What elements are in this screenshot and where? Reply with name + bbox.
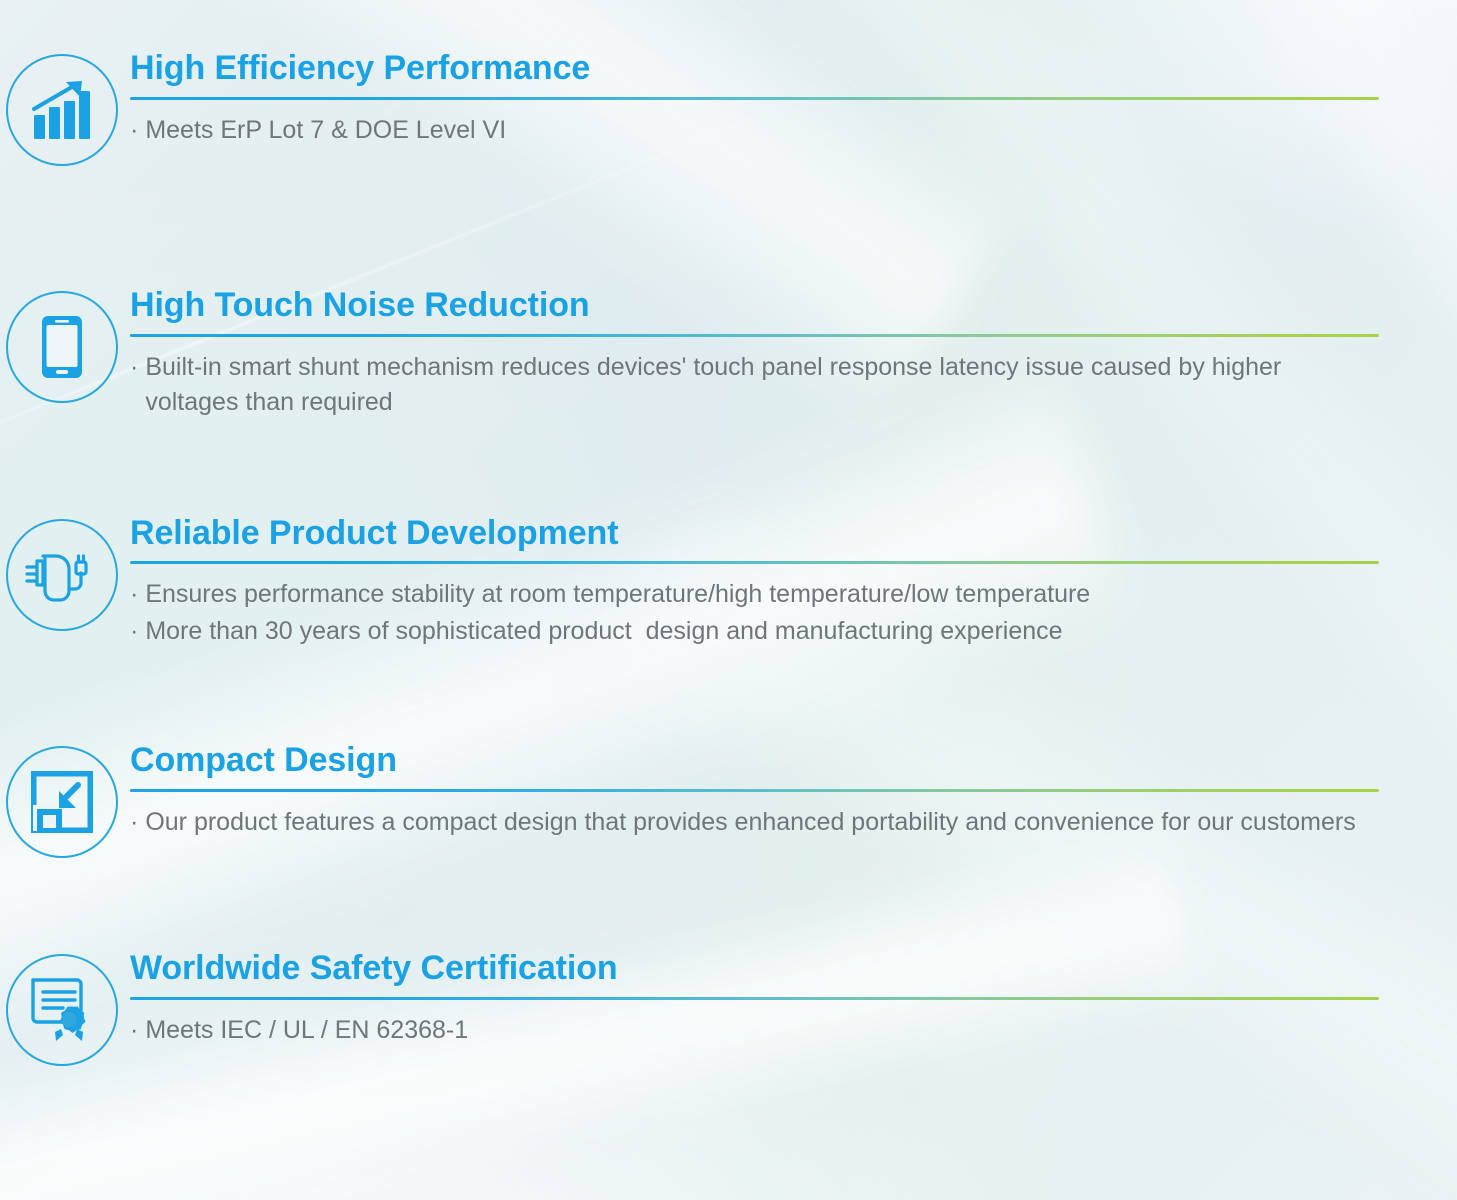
feature-bullets: · Meets ErP Lot 7 & DOE Level VI <box>130 113 1379 149</box>
feature-title: High Touch Noise Reduction <box>130 287 1379 324</box>
feature-bullets: · Our product features a compact design … <box>130 805 1379 841</box>
bullet-marker: · <box>130 805 138 841</box>
feature-item-high-touch-noise-reduction: High Touch Noise Reduction · Built-in sm… <box>0 287 1457 421</box>
feature-item-high-efficiency-performance: High Efficiency Performance · Meets ErP … <box>0 50 1457 166</box>
feature-bullet: · More than 30 years of sophisticated pr… <box>130 614 1379 650</box>
growth-bar-chart-icon <box>6 54 118 166</box>
feature-bullets: · Meets IEC / UL / EN 62368-1 <box>130 1013 1379 1049</box>
compact-resize-icon <box>6 746 118 858</box>
bullet-text: Meets IEC / UL / EN 62368-1 <box>145 1013 1379 1049</box>
feature-bullets: · Ensures performance stability at room … <box>130 577 1379 649</box>
feature-title: High Efficiency Performance <box>130 50 1379 87</box>
feature-bullets: · Built-in smart shunt mechanism reduces… <box>130 350 1379 421</box>
feature-icon-slot <box>0 291 124 403</box>
feature-body: Reliable Product Development · Ensures p… <box>124 515 1457 650</box>
bullet-marker: · <box>130 350 138 386</box>
feature-divider <box>130 789 1379 792</box>
feature-item-reliable-product-development: Reliable Product Development · Ensures p… <box>0 515 1457 650</box>
bullet-text: More than 30 years of sophisticated prod… <box>145 614 1379 650</box>
feature-bullet: · Meets ErP Lot 7 & DOE Level VI <box>130 113 1379 149</box>
bullet-text: Meets ErP Lot 7 & DOE Level VI <box>145 113 1379 149</box>
feature-title: Worldwide Safety Certification <box>130 950 1379 987</box>
smartphone-icon <box>6 291 118 403</box>
certificate-seal-icon <box>6 954 118 1066</box>
feature-icon-slot <box>0 54 124 166</box>
feature-divider <box>130 97 1379 100</box>
feature-bullet: · Our product features a compact design … <box>130 805 1379 841</box>
bullet-text: Ensures performance stability at room te… <box>145 577 1379 613</box>
feature-bullet: · Meets IEC / UL / EN 62368-1 <box>130 1013 1379 1049</box>
feature-divider <box>130 334 1379 337</box>
feature-body: High Efficiency Performance · Meets ErP … <box>124 50 1457 148</box>
bullet-marker: · <box>130 1013 138 1049</box>
bullet-text: Our product features a compact design th… <box>145 805 1379 841</box>
feature-title: Reliable Product Development <box>130 515 1379 552</box>
feature-list: High Efficiency Performance · Meets ErP … <box>0 50 1457 1066</box>
feature-divider <box>130 997 1379 1000</box>
feature-body: Compact Design · Our product features a … <box>124 742 1457 840</box>
feature-body: High Touch Noise Reduction · Built-in sm… <box>124 287 1457 421</box>
feature-bullet: · Ensures performance stability at room … <box>130 577 1379 613</box>
bullet-text: Built-in smart shunt mechanism reduces d… <box>145 350 1379 421</box>
feature-icon-slot <box>0 746 124 858</box>
power-adapter-icon <box>6 519 118 631</box>
feature-body: Worldwide Safety Certification · Meets I… <box>124 950 1457 1048</box>
feature-item-worldwide-safety-certification: Worldwide Safety Certification · Meets I… <box>0 950 1457 1066</box>
feature-icon-slot <box>0 954 124 1066</box>
feature-item-compact-design: Compact Design · Our product features a … <box>0 742 1457 858</box>
feature-highlights-page: High Efficiency Performance · Meets ErP … <box>0 0 1457 1200</box>
feature-bullet: · Built-in smart shunt mechanism reduces… <box>130 350 1379 421</box>
bullet-marker: · <box>130 614 138 650</box>
bullet-marker: · <box>130 113 138 149</box>
feature-title: Compact Design <box>130 742 1379 779</box>
bullet-marker: · <box>130 577 138 613</box>
feature-icon-slot <box>0 519 124 631</box>
feature-divider <box>130 561 1379 564</box>
